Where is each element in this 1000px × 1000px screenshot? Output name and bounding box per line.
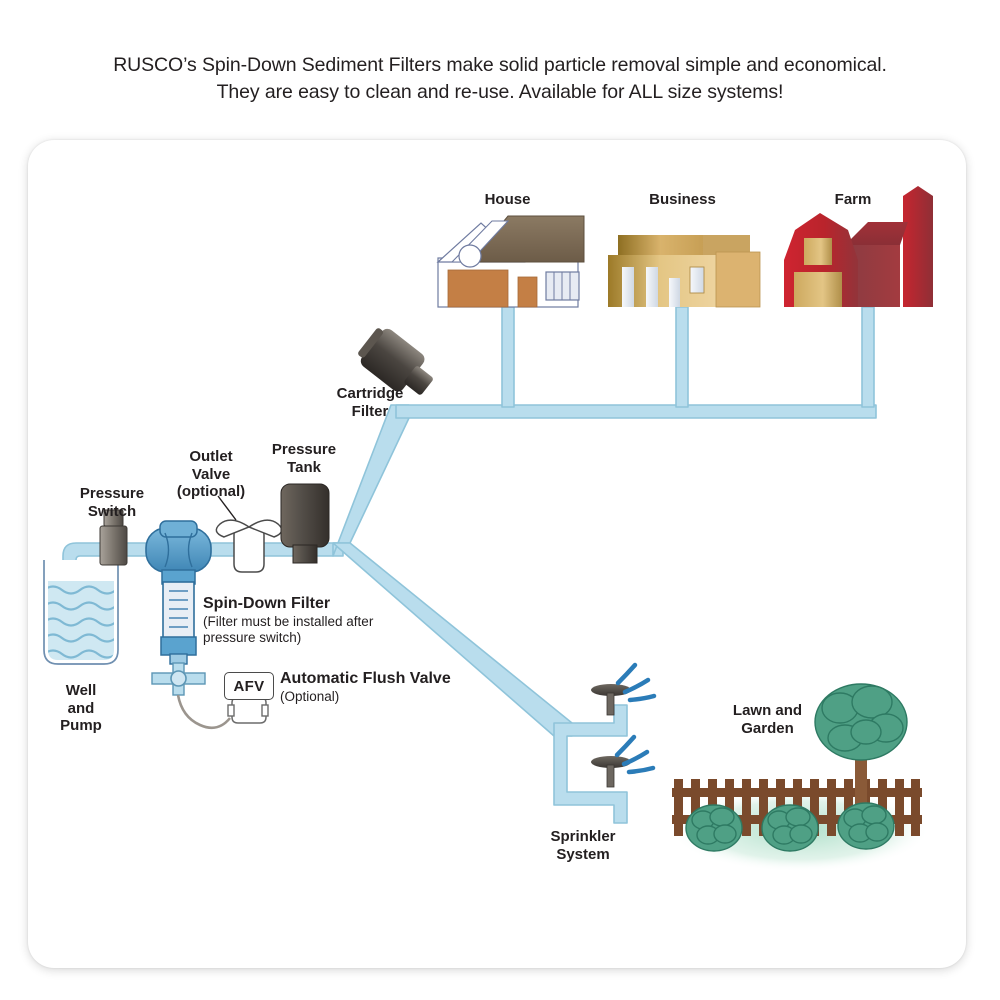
shrub-2 [762, 805, 818, 851]
pipe-drop-house [502, 307, 514, 407]
pipe-distribution-header [396, 405, 876, 418]
automatic-flush-valve-icon [228, 697, 268, 723]
business-icon [608, 235, 760, 307]
label-cartridge-filter: Cartridge Filter [322, 385, 418, 420]
pipe-filter-to-valve [211, 543, 235, 556]
pipe-drop-business [676, 307, 688, 407]
shrub-1 [686, 805, 742, 851]
sprinkler-head-lower [591, 756, 631, 787]
label-pressure-tank: Pressure Tank [256, 441, 352, 476]
label-well-and-pump: Well and Pump [33, 682, 129, 735]
label-outlet-valve: Outlet Valve (optional) [163, 448, 259, 501]
label-pressure-switch: Pressure Switch [64, 485, 160, 520]
label-spin-down-filter: Spin-Down Filter [203, 595, 433, 613]
label-business: Business [630, 191, 735, 209]
flush-valve-cross-icon [152, 663, 205, 695]
label-lawn-and-garden: Lawn and Garden [710, 702, 825, 737]
house-icon [438, 216, 584, 307]
pipe-drop-farm [862, 307, 874, 407]
flush-hose [178, 695, 230, 728]
afv-badge: AFV [224, 672, 274, 700]
label-sprinkler-system: Sprinkler System [528, 828, 638, 863]
well-and-pump [44, 560, 118, 664]
shrub-3 [838, 803, 894, 849]
outlet-valve-icon [216, 496, 281, 572]
label-house: House [455, 191, 560, 209]
label-automatic-flush-valve: Automatic Flush Valve [280, 670, 530, 688]
label-farm: Farm [808, 191, 898, 209]
label-spin-down-filter-note: (Filter must be installed after pressure… [203, 614, 433, 646]
pipe-junction-upper-diagonal [333, 405, 409, 556]
shrubs [686, 803, 894, 851]
label-automatic-flush-valve-note: (Optional) [280, 689, 530, 705]
